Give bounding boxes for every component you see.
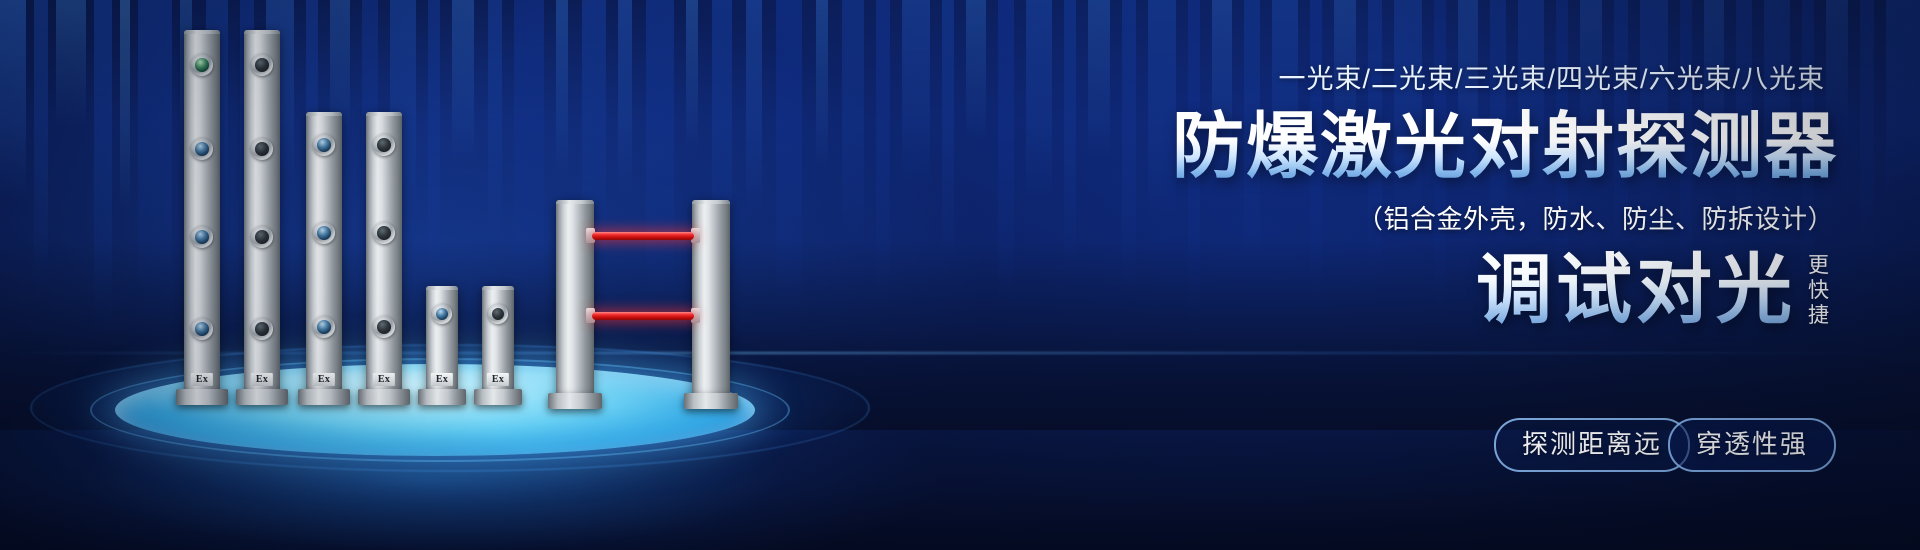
lens-icon [191,226,213,248]
light-bar [816,0,828,168]
light-bar [1064,0,1076,274]
lens-icon [373,134,395,156]
ex-rating-label: Ex [431,373,453,386]
column-base [548,393,602,409]
lens-icon [313,316,335,338]
light-bar [138,0,172,300]
light-bar [94,0,112,350]
ex-rating-label: Ex [191,373,213,386]
column-base [474,389,522,405]
ex-rating-label: Ex [487,373,509,386]
slogan-side-char-2: 快 [1808,278,1830,303]
slogan-main: 调试对光 [1476,248,1796,334]
slogan-side-column: 更 快 捷 [1808,253,1830,328]
column-base [298,389,350,405]
light-bar [998,0,1014,322]
light-bar [120,0,130,210]
light-bar [428,0,440,286]
lens-icon [191,54,213,76]
ex-rating-label: Ex [251,373,273,386]
feature-pill-penetration[interactable]: 穿透性强 [1668,418,1836,472]
lens-icon [251,54,273,76]
lens-icon [251,226,273,248]
light-bar [942,0,954,262]
light-bar [34,0,48,286]
lens-icon [432,304,452,324]
light-bar [556,0,568,176]
light-bar [686,0,698,150]
light-bar [488,0,502,240]
product-title: 防爆激光对射探测器 [1172,106,1838,188]
lens-icon [488,304,508,324]
column-base [176,389,228,405]
light-bar [1026,0,1052,204]
feature-pill-group: 探测距离远 穿透性强 [1494,418,1836,472]
column-base [358,389,410,405]
column-6: Ex [482,286,514,392]
column-base [418,389,466,405]
column-base [236,389,288,405]
lens-icon [313,134,335,156]
light-bar [56,0,86,126]
feature-pill-distance[interactable]: 探测距离远 [1494,418,1690,472]
promo-banner: ExExExExExEx 一光束/二光束/三光束/四光束/六光束/八光束 防爆激… [0,0,1920,550]
light-bar [514,0,544,330]
ex-rating-label: Ex [373,373,395,386]
column-base [684,393,738,409]
light-bar [902,0,930,186]
beam-options-line: 一光束/二光束/三光束/四光束/六光束/八光束 [1278,62,1825,96]
lens-icon [251,318,273,340]
lens-icon [191,318,213,340]
lens-icon [251,138,273,160]
ex-rating-label: Ex [313,373,335,386]
slogan-side-char-3: 捷 [1808,303,1830,328]
light-bar [842,0,864,248]
slogan-side-char-1: 更 [1808,253,1830,278]
light-bar [776,0,802,336]
light-bar [452,0,474,160]
light-bar [876,0,890,300]
light-bar [966,0,986,142]
features-parenthetical: （铝合金外壳，防水、防尘、防拆设计） [1357,203,1834,235]
lens-icon [191,138,213,160]
slogan-row: 调试对光 更 快 捷 [1476,248,1830,334]
light-bar [1122,0,1136,296]
lens-icon [313,222,335,244]
light-bar [1088,0,1110,158]
light-bar [646,0,674,316]
laser-beam-lower [592,312,694,320]
marketing-text-block: 一光束/二光束/三光束/四光束/六光束/八光束 防爆激光对射探测器 （铝合金外壳… [1140,0,1920,550]
lens-icon [373,222,395,244]
lens-icon [373,316,395,338]
light-bar [0,0,26,198]
column-2: Ex [244,30,280,392]
light-bar [746,0,762,212]
column-5: Ex [426,286,458,392]
column-3: Ex [306,112,342,392]
column-1: Ex [184,30,220,392]
column-4: Ex [366,112,402,392]
laser-beam-upper [592,232,694,240]
light-bar [618,0,632,194]
